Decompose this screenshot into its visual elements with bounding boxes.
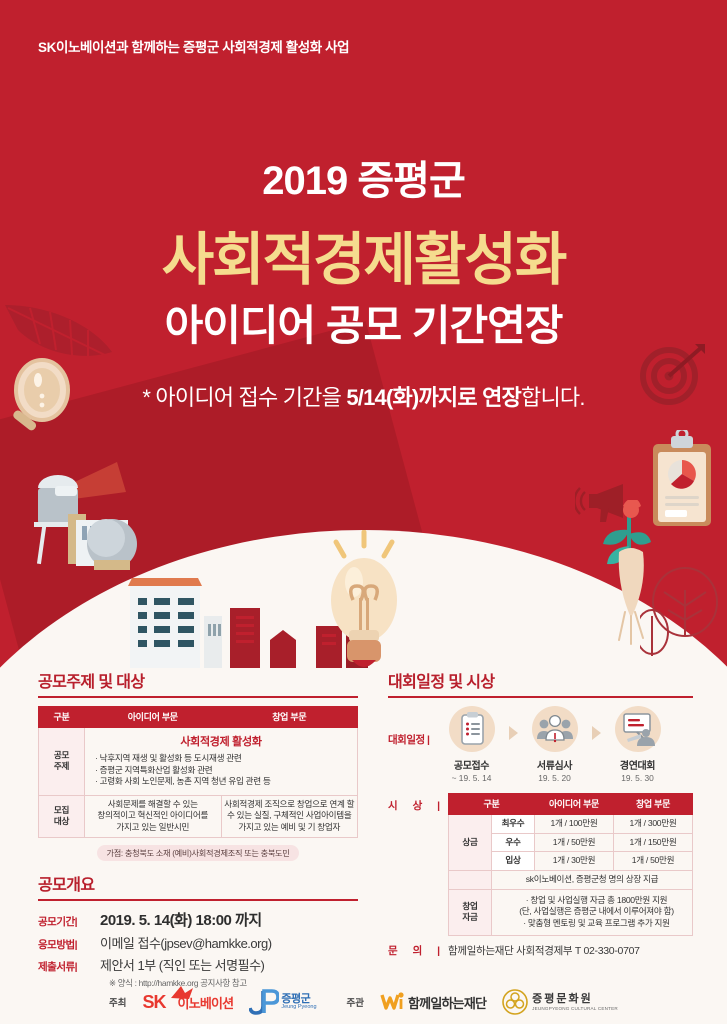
note-prefix: * 아이디어 접수 기간을 — [142, 385, 346, 410]
theme-bullet: · 증평군 지역특화산업 활성화 관련 — [95, 765, 357, 777]
step-date: 19. 5. 30 — [602, 773, 674, 783]
cultural-center-emblem-icon — [502, 989, 528, 1015]
page-title-main: 사회적경제활성화 — [0, 214, 727, 296]
content-area: 공모주제 및 대상 구분 아이디어 부문 창업 부문 공모주제 사회적경제 활성… — [0, 668, 727, 1024]
lightbulb-icon — [323, 530, 405, 670]
schedule-step: 경연대회 19. 5. 30 — [602, 706, 674, 783]
overview-row: 응모방법| 이메일 접수(jpsev@hamkke.org) — [38, 933, 358, 952]
contact-value: 함께일하는재단 사회적경제부 T 02-330-0707 — [448, 943, 640, 958]
topics-footnote: 가점: 충청북도 소재 (예비)사회적경제조직 또는 충북도민 — [38, 843, 358, 861]
overview-label-text: 공모기간 — [38, 916, 75, 928]
section-rule — [388, 696, 693, 698]
overview-row: 공모기간| 2019. 5. 14(화) 18:00 까지 — [38, 909, 358, 930]
footnote-badge: 가점: 충청북도 소재 (예비)사회적경제조직 또는 충북도민 — [97, 845, 298, 861]
row-label-fund: 창업자금 — [449, 889, 492, 936]
row-label-spacer — [449, 870, 492, 889]
presentation-icon — [615, 706, 661, 752]
step-icon-bg — [615, 706, 661, 752]
label-bar: | — [75, 961, 77, 973]
logo-jeungpyeong-cultural-center: 증평문화원 JEUNGPYEONG CULTURAL CENTER — [502, 989, 618, 1015]
hero-banner: SK이노베이션과 함께하는 증평군 사회적경제 활성화 사업 2019 증평군 … — [0, 0, 727, 670]
target-startup-cell: 사회적경제 조직으로 창업으로 연계 할수 있는 실질, 구체적인 사업아이템을… — [221, 795, 358, 837]
overview-label-text: 응모방법 — [38, 939, 75, 951]
page-title-sub: 아이디어 공모 기간연장 — [0, 292, 727, 353]
overview-label-text: 제출서류 — [38, 961, 75, 973]
award-block: 시 상 | 구분 아이디어 부문 창업 부문 상금 최우수 1개 / 100만원… — [388, 793, 693, 936]
sponsor-label: 주관 — [347, 995, 364, 1009]
sk-mark: SK — [143, 992, 166, 1012]
step-name: 서류심사 — [519, 757, 591, 772]
fund-cell: · 창업 및 사업실행 자금 총 1800만원 지원 (단, 사업실행은 증평군… — [492, 889, 693, 936]
prize-startup: 1개 / 150만원 — [614, 833, 693, 852]
col-header-idea: 아이디어 부문 — [85, 707, 222, 728]
note-extend: 연장 — [482, 385, 521, 410]
left-column: 공모주제 및 대상 구분 아이디어 부문 창업 부문 공모주제 사회적경제 활성… — [38, 668, 358, 989]
clipboard-list-icon — [449, 706, 495, 752]
jp-text: 증평군 Jeung Pyeong — [281, 994, 316, 1011]
prize-grade: 우수 — [492, 833, 535, 852]
overview-value: 이메일 접수(jpsev@hamkke.org) — [100, 933, 272, 952]
logo-hamkke-foundation: 함께일하는재단 — [380, 992, 486, 1012]
people-group-icon — [532, 706, 578, 752]
label-bar: | — [75, 939, 77, 951]
table-header-row: 구분 아이디어 부문 창업 부문 — [39, 707, 358, 728]
overview-label: 공모기간| — [38, 914, 100, 929]
step-date: 19. 5. 20 — [519, 773, 591, 783]
logo-jeungpyeong-county: 증평군 Jeung Pyeong — [249, 988, 316, 1016]
col-header-startup: 창업 부문 — [221, 707, 358, 728]
jc-korean: 증평문화원 — [532, 993, 618, 1005]
fund-bullet: · 창업 및 사업실행 자금 총 1800만원 지원 — [501, 895, 692, 907]
overview-label: 제출서류| — [38, 959, 100, 974]
section-title-topics: 공모주제 및 대상 — [38, 668, 358, 696]
host-label: 주최 — [109, 995, 126, 1009]
footer-logos: 주최 SK이노베이션 증평군 Jeung Pyeong 주관 — [0, 988, 727, 1016]
theme-bullet: · 고령화 사회 노인문제, 농촌 지역 청년 유입 관련 등 — [95, 776, 357, 788]
col-header-category: 구분 — [39, 707, 85, 728]
prize-idea: 1개 / 50만원 — [535, 833, 614, 852]
table-header-row: 구분 아이디어 부문 창업 부문 — [449, 794, 693, 815]
step-name: 공모접수 — [436, 757, 508, 772]
theme-bullets: · 낙후지역 재생 및 활성화 등 도시재생 관련 · 증평군 지역특화산업 활… — [85, 753, 357, 788]
table-row: 공모주제 사회적경제 활성화 · 낙후지역 재생 및 활성화 등 도시재생 관련… — [39, 728, 358, 796]
sk-butterfly-icon — [169, 985, 195, 1001]
wt-name: 함께일하는재단 — [408, 993, 486, 1012]
row-label-theme: 공모주제 — [39, 728, 85, 796]
row-label-prize: 상금 — [449, 815, 492, 871]
overview-label: 응모방법| — [38, 937, 100, 952]
prize-startup: 1개 / 50만원 — [614, 852, 693, 871]
fund-bullet: (단, 사업실행은 증평군 내에서 이루어져야 함) — [501, 906, 692, 918]
section-title-schedule: 대회일정 및 시상 — [388, 668, 693, 696]
award-label: 시 상 | — [388, 793, 448, 813]
table-row: 모집대상 사회문제를 해결할 수 있는창의적이고 혁신적인 아이디어를가지고 있… — [39, 795, 358, 837]
overview-value: 2019. 5. 14(화) 18:00 까지 — [100, 909, 262, 930]
prize-idea: 1개 / 30만원 — [535, 852, 614, 871]
jp-english: Jeung Pyeong — [281, 1005, 316, 1011]
table-row: 상금 최우수 1개 / 100만원 1개 / 300만원 — [449, 815, 693, 834]
chevron-right-icon — [592, 726, 601, 740]
theme-heading: 사회적경제 활성화 — [85, 733, 357, 753]
overview-row: 제출서류| 제안서 1부 (직인 또는 서명필수) — [38, 955, 358, 974]
logo-sk-innovation: SK이노베이션 — [143, 992, 234, 1013]
award-table: 구분 아이디어 부문 창업 부문 상금 최우수 1개 / 100만원 1개 / … — [448, 793, 693, 936]
contact-label: 문 의 | — [388, 943, 448, 958]
extension-note: * 아이디어 접수 기간을 5/14(화)까지로 연장합니다. — [0, 380, 727, 412]
prize-grade: 최우수 — [492, 815, 535, 834]
prize-idea: 1개 / 100만원 — [535, 815, 614, 834]
prize-grade: 입상 — [492, 852, 535, 871]
label-bar: | — [75, 916, 77, 928]
fund-bullet: · 맞춤형 멘토링 및 교육 프로그램 추가 지원 — [501, 918, 692, 930]
bushes-icon — [640, 560, 727, 670]
col-header-startup: 창업 부문 — [614, 794, 693, 815]
prize-startup: 1개 / 300만원 — [614, 815, 693, 834]
jc-text: 증평문화원 JEUNGPYEONG CULTURAL CENTER — [532, 993, 618, 1010]
target-idea-cell: 사회문제를 해결할 수 있는창의적이고 혁신적인 아이디어를가지고 있는 일반시… — [85, 795, 222, 837]
poster-root: SK이노베이션과 함께하는 증평군 사회적경제 활성화 사업 2019 증평군 … — [0, 0, 727, 1024]
overview-value: 제안서 1부 (직인 또는 서명필수) — [100, 955, 264, 974]
step-icon-bg — [449, 706, 495, 752]
schedule-step: 공모접수 ~ 19. 5. 14 — [436, 706, 508, 783]
section-rule — [38, 696, 358, 698]
note-mid: 까지로 — [418, 385, 482, 410]
schedule-block: 대회일정 | 공모접수 ~ 19. 5. 14 — [388, 706, 693, 783]
section-title-overview: 공모개요 — [38, 871, 358, 899]
topics-table: 구분 아이디어 부문 창업 부문 공모주제 사회적경제 활성화 · 낙후지역 재… — [38, 706, 358, 838]
schedule-step: 서류심사 19. 5. 20 — [519, 706, 591, 783]
jc-english: JEUNGPYEONG CULTURAL CENTER — [532, 1006, 618, 1011]
theme-cell: 사회적경제 활성화 · 낙후지역 재생 및 활성화 등 도시재생 관련 · 증평… — [85, 728, 358, 796]
theme-bullet: · 낙후지역 재생 및 활성화 등 도시재생 관련 — [95, 753, 357, 765]
chevron-right-icon — [509, 726, 518, 740]
row-label-target: 모집대상 — [39, 795, 85, 837]
kicker-text: SK이노베이션과 함께하는 증평군 사회적경제 활성화 사업 — [38, 36, 349, 56]
table-row: 창업자금 · 창업 및 사업실행 자금 총 1800만원 지원 (단, 사업실행… — [449, 889, 693, 936]
step-icon-bg — [532, 706, 578, 752]
schedule-steps: 공모접수 ~ 19. 5. 14 — [436, 706, 674, 783]
prize-note: sk이노베이션, 증평군청 명의 상장 지급 — [492, 870, 693, 889]
note-suffix: 합니다. — [521, 385, 585, 410]
overview-subnote: ※ 양식 : http://hamkke.org 공지사항 참고 — [109, 977, 358, 989]
table-row: sk이노베이션, 증평군청 명의 상장 지급 — [449, 870, 693, 889]
section-rule — [38, 899, 358, 901]
page-title-year: 2019 증평군 — [0, 148, 727, 206]
schedule-label: 대회일정 | — [388, 706, 430, 747]
note-date: 5/14(화) — [346, 385, 418, 410]
jp-monogram-icon — [249, 988, 279, 1016]
contact-row: 문 의 | 함께일하는재단 사회적경제부 T 02-330-0707 — [388, 943, 693, 958]
col-header-idea: 아이디어 부문 — [535, 794, 614, 815]
step-date: ~ 19. 5. 14 — [436, 773, 508, 783]
wt-mark-icon — [380, 992, 406, 1012]
step-name: 경연대회 — [602, 757, 674, 772]
col-header-category: 구분 — [449, 794, 535, 815]
right-column: 대회일정 및 시상 대회일정 | 공모접 — [388, 668, 693, 958]
